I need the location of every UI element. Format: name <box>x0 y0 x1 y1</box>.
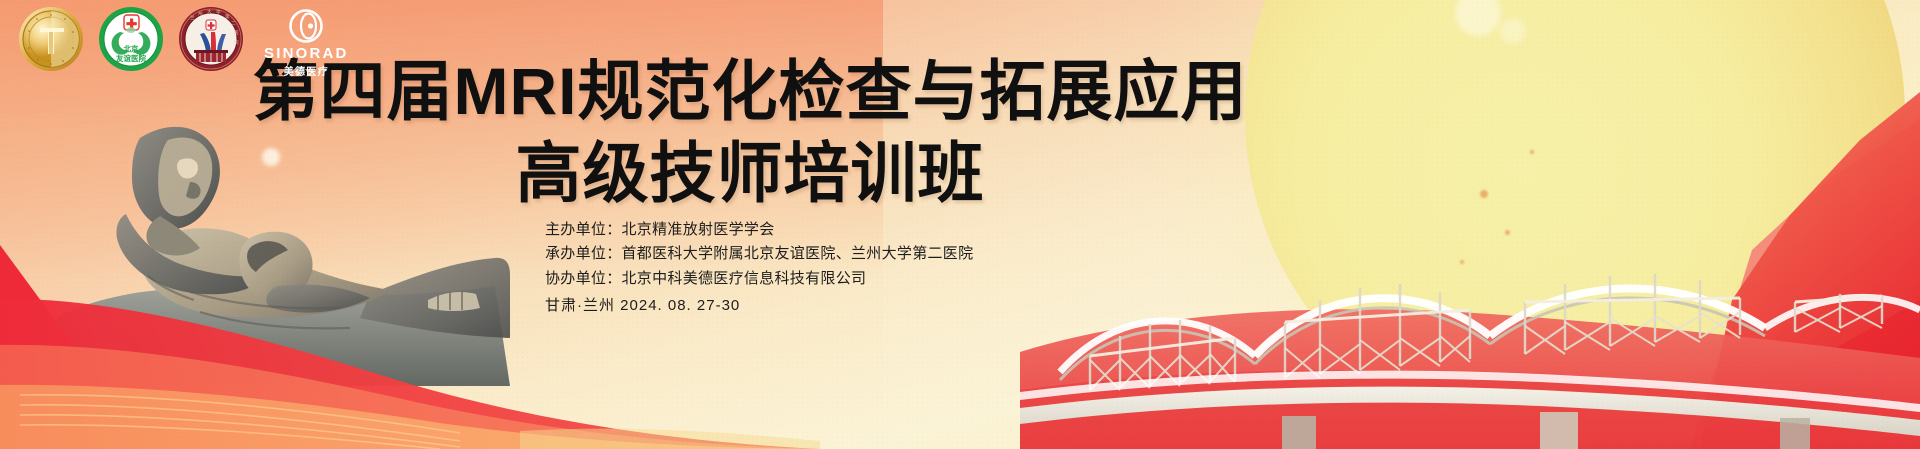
conference-banner: 北京 友谊医院 兰州大 学第二 医院 <box>0 0 1920 449</box>
sinorad-eye-icon <box>289 9 323 43</box>
svg-text:兰: 兰 <box>190 14 195 20</box>
green-hospital-seal-icon: 北京 友谊医院 <box>98 6 164 72</box>
svg-text:医: 医 <box>234 30 239 35</box>
sponsor-logo-row: 北京 友谊医院 兰州大 学第二 医院 <box>18 6 349 78</box>
svg-text:州: 州 <box>198 11 203 16</box>
svg-text:二: 二 <box>231 21 236 26</box>
organizer-line: 主办单位：北京精准放射医学学会 <box>545 218 973 242</box>
place-date-line: 甘肃·兰州 2024. 08. 27-30 <box>545 294 973 318</box>
emblem-label-top: 北京 <box>124 44 139 54</box>
coorganizer-line: 协办单位：北京中科美德医疗信息科技有限公司 <box>545 267 973 291</box>
svg-text:第: 第 <box>225 13 230 20</box>
svg-text:院: 院 <box>234 39 239 46</box>
maroon-hospital-seal-icon: 兰州大 学第二 医院 <box>178 6 244 72</box>
beijing-friendship-hospital-emblem: 北京 友谊医院 <box>98 6 164 77</box>
svg-text:大: 大 <box>207 8 212 15</box>
svg-text:学: 学 <box>216 9 221 15</box>
event-details: 主办单位：北京精准放射医学学会 承办单位：首都医科大学附属北京友谊医院、兰州大学… <box>545 218 973 318</box>
gold-seal-icon <box>18 6 84 72</box>
sinorad-logo: SINORAD 美德医疗 <box>264 9 349 78</box>
beijing-precision-radiology-society-emblem <box>18 6 84 77</box>
emblem-label-bottom: 友谊医院 <box>115 53 146 63</box>
lanzhou-university-second-hospital-emblem: 兰州大 学第二 医院 <box>178 6 244 77</box>
sinorad-subtitle: 美德医疗 <box>284 63 329 78</box>
sinorad-wordmark: SINORAD <box>264 45 349 62</box>
host-line: 承办单位：首都医科大学附属北京友谊医院、兰州大学第二医院 <box>545 242 973 266</box>
